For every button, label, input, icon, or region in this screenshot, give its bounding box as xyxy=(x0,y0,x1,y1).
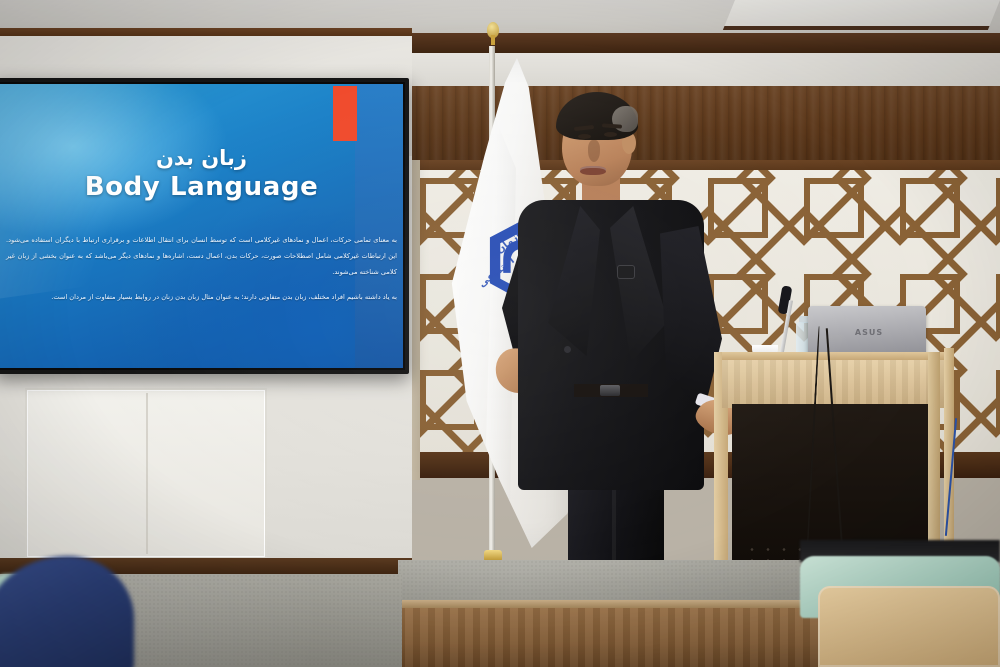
podium-front-panel xyxy=(722,360,944,408)
slide-paragraph: به یاد داشته باشیم افراد مختلف، زبان بدن… xyxy=(6,289,397,305)
audience-chair-back[interactable] xyxy=(818,586,1000,667)
speaker-eye-right xyxy=(604,132,617,137)
slide-title-persian: زبان بدن xyxy=(0,146,403,170)
slide-right-band xyxy=(355,84,403,368)
slide-body-text: به معنای تمامی حرکات، اعمال و نمادهای غی… xyxy=(6,232,397,315)
white-cabinet[interactable] xyxy=(25,388,267,559)
speaker-eye-left xyxy=(578,134,591,139)
podium-side-rail-right xyxy=(928,352,940,572)
wall-television[interactable]: زبان بدن Body Language به معنای تمامی حر… xyxy=(0,78,409,374)
slide-paragraph: به معنای تمامی حرکات، اعمال و نمادهای غی… xyxy=(6,232,397,280)
slide-accent-block xyxy=(333,86,357,141)
ceiling-recess-panel xyxy=(723,0,1000,30)
laptop-brand-label: ASUS xyxy=(854,328,884,337)
flag-finial-icon xyxy=(487,22,499,38)
belt-buckle xyxy=(600,385,620,396)
speaker-mouth xyxy=(580,166,606,175)
lapel-microphone-icon xyxy=(618,266,634,278)
jacket-button xyxy=(564,346,571,353)
tv-screen: زبان بدن Body Language به معنای تمامی حر… xyxy=(0,84,403,368)
cabinet-door-divider xyxy=(146,393,148,554)
foreground-audience-member xyxy=(0,556,134,667)
speaker-nose xyxy=(588,140,600,162)
speaker-person xyxy=(500,96,750,596)
conference-room-photo: زبان بدن Body Language به معنای تمامی حر… xyxy=(0,0,1000,667)
slide-title-english: Body Language xyxy=(0,172,403,202)
